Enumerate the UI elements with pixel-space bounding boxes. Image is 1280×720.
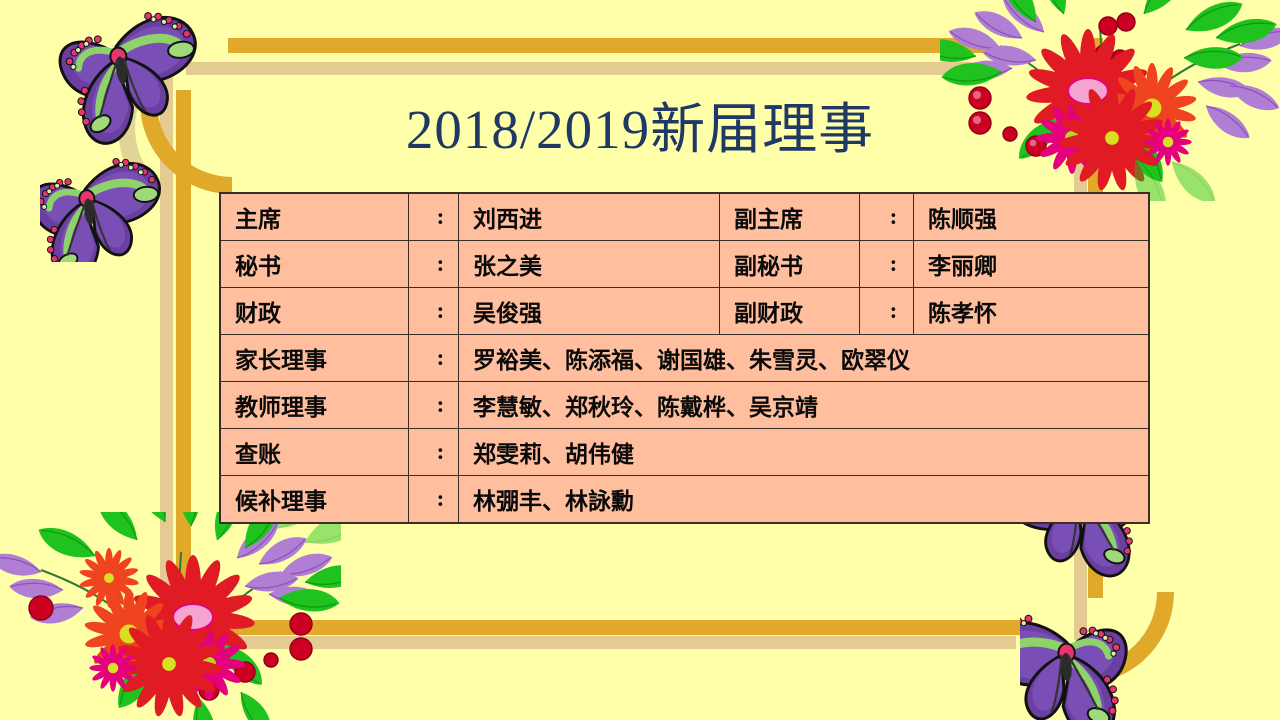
row-label: 教师理事 <box>220 382 409 429</box>
row-value: 郑雯莉、胡伟健 <box>459 429 1150 476</box>
row-label: 候补理事 <box>220 476 409 524</box>
frame-bar-top <box>228 38 988 53</box>
row-label: 主席 <box>220 193 409 241</box>
table-row: 家长理事 : 罗裕美、陈添福、谢国雄、朱雪灵、欧翠仪 <box>220 335 1149 382</box>
row-colon: : <box>409 335 459 382</box>
table-row: 查账 : 郑雯莉、胡伟健 <box>220 429 1149 476</box>
row-label-right: 副主席 <box>720 193 860 241</box>
row-colon: : <box>409 382 459 429</box>
row-colon-right: : <box>860 193 914 241</box>
row-label: 查账 <box>220 429 409 476</box>
slide-canvas: 2018/2019新届理事 主席 : 刘西进 副主席 : 陈顺强 秘书 : 张之… <box>0 0 1280 720</box>
row-label-right: 副财政 <box>720 288 860 335</box>
row-label-right: 副秘书 <box>720 241 860 288</box>
row-value: 张之美 <box>459 241 720 288</box>
table-row: 秘书 : 张之美 副秘书 : 李丽卿 <box>220 241 1149 288</box>
row-value: 吴俊强 <box>459 288 720 335</box>
table-row: 教师理事 : 李慧敏、郑秋玲、陈戴桦、吴京靖 <box>220 382 1149 429</box>
row-colon: : <box>409 476 459 524</box>
row-label: 家长理事 <box>220 335 409 382</box>
committee-table: 主席 : 刘西进 副主席 : 陈顺强 秘书 : 张之美 副秘书 : 李丽卿 财政… <box>219 192 1150 524</box>
row-value-right: 陈顺强 <box>914 193 1150 241</box>
frame-bar-bottom <box>228 620 1028 635</box>
row-label: 财政 <box>220 288 409 335</box>
row-colon: : <box>409 288 459 335</box>
row-colon: : <box>409 429 459 476</box>
row-colon: : <box>409 241 459 288</box>
row-value: 林弸丰、林詠勳 <box>459 476 1150 524</box>
row-colon-right: : <box>860 241 914 288</box>
row-label: 秘书 <box>220 241 409 288</box>
table-row: 财政 : 吴俊强 副财政 : 陈孝怀 <box>220 288 1149 335</box>
flower-bouquet-bottom-left <box>0 512 341 720</box>
table-row: 候补理事 : 林弸丰、林詠勳 <box>220 476 1149 524</box>
row-value-right: 陈孝怀 <box>914 288 1150 335</box>
row-value: 罗裕美、陈添福、谢国雄、朱雪灵、欧翠仪 <box>459 335 1150 382</box>
page-title: 2018/2019新届理事 <box>0 98 1280 162</box>
row-value: 李慧敏、郑秋玲、陈戴桦、吴京靖 <box>459 382 1150 429</box>
row-value-right: 李丽卿 <box>914 241 1150 288</box>
row-value: 刘西进 <box>459 193 720 241</box>
frame-bar-left <box>176 90 191 650</box>
table-row: 主席 : 刘西进 副主席 : 陈顺强 <box>220 193 1149 241</box>
row-colon-right: : <box>860 288 914 335</box>
row-colon: : <box>409 193 459 241</box>
